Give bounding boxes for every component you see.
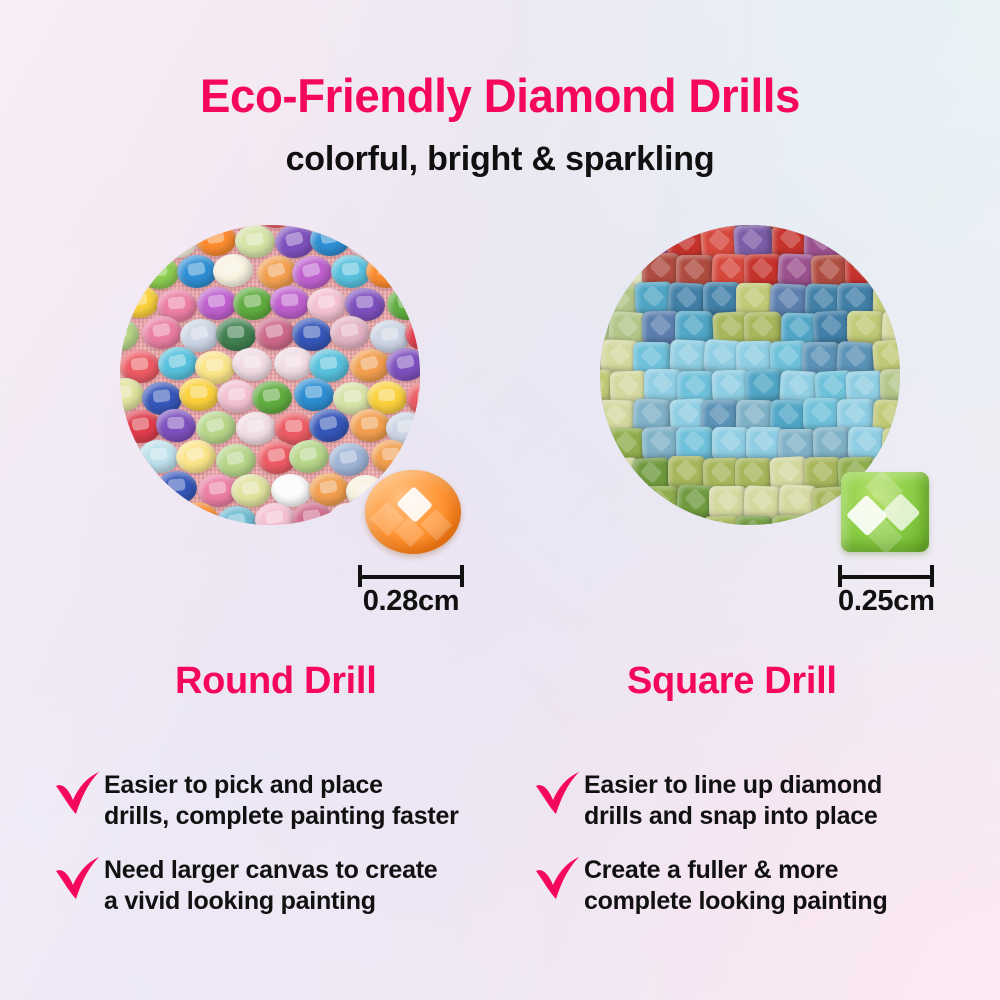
measure-bar bbox=[838, 575, 934, 579]
list-item: Need larger canvas to create a vivid loo… bbox=[52, 853, 522, 916]
square-bead bbox=[666, 514, 705, 525]
round-bead bbox=[349, 408, 390, 442]
square-measurement-label: 0.25cm bbox=[838, 585, 934, 618]
round-drill-heading: Round Drill bbox=[175, 660, 376, 703]
square-bead bbox=[735, 516, 773, 525]
check-icon bbox=[52, 770, 104, 820]
square-bead bbox=[803, 515, 843, 525]
round-drill-measurement: 0.28cm bbox=[358, 565, 464, 587]
square-bead bbox=[812, 310, 852, 345]
list-item-text: Easier to line up diamond drills and sna… bbox=[584, 768, 882, 831]
square-bead bbox=[845, 253, 883, 286]
measure-cap-right bbox=[460, 565, 464, 587]
round-drill-sample-icon bbox=[365, 470, 461, 554]
square-drill-benefits: Easier to line up diamond drills and sna… bbox=[532, 768, 1000, 938]
infographic-stage: Eco-Friendly Diamond Drills colorful, br… bbox=[0, 0, 1000, 1000]
list-item-text: Need larger canvas to create a vivid loo… bbox=[104, 853, 437, 916]
round-measurement-label: 0.28cm bbox=[358, 585, 464, 618]
check-icon bbox=[52, 855, 104, 905]
square-bead bbox=[847, 311, 885, 344]
square-drill-sample-icon bbox=[841, 472, 929, 552]
square-bead bbox=[813, 427, 852, 461]
square-bead bbox=[709, 486, 747, 519]
square-drill-heading: Square Drill bbox=[627, 660, 837, 703]
list-item: Create a fuller & more complete looking … bbox=[532, 853, 1000, 916]
square-bead bbox=[879, 369, 900, 403]
square-bead bbox=[803, 397, 841, 430]
round-bead bbox=[330, 315, 370, 348]
measure-bar bbox=[358, 575, 464, 579]
list-item-text: Create a fuller & more complete looking … bbox=[584, 853, 887, 916]
square-bead bbox=[600, 515, 639, 525]
round-drill-photo bbox=[120, 225, 420, 525]
round-bead bbox=[348, 225, 388, 258]
page-subtitle: colorful, bright & sparkling bbox=[0, 140, 1000, 179]
round-drill-benefits: Easier to pick and place drills, complet… bbox=[52, 768, 522, 938]
check-icon bbox=[532, 855, 584, 905]
square-bead bbox=[712, 427, 750, 460]
page-title: Eco-Friendly Diamond Drills bbox=[15, 68, 985, 123]
check-icon bbox=[532, 770, 584, 820]
square-bead bbox=[600, 225, 639, 258]
list-item: Easier to pick and place drills, complet… bbox=[52, 768, 522, 831]
square-bead bbox=[881, 254, 900, 287]
list-item-text: Easier to pick and place drills, complet… bbox=[104, 768, 459, 831]
square-drill-measurement: 0.25cm bbox=[838, 565, 934, 587]
list-item: Easier to line up diamond drills and sna… bbox=[532, 768, 1000, 831]
square-bead bbox=[745, 368, 784, 402]
measure-cap-right bbox=[930, 565, 934, 587]
